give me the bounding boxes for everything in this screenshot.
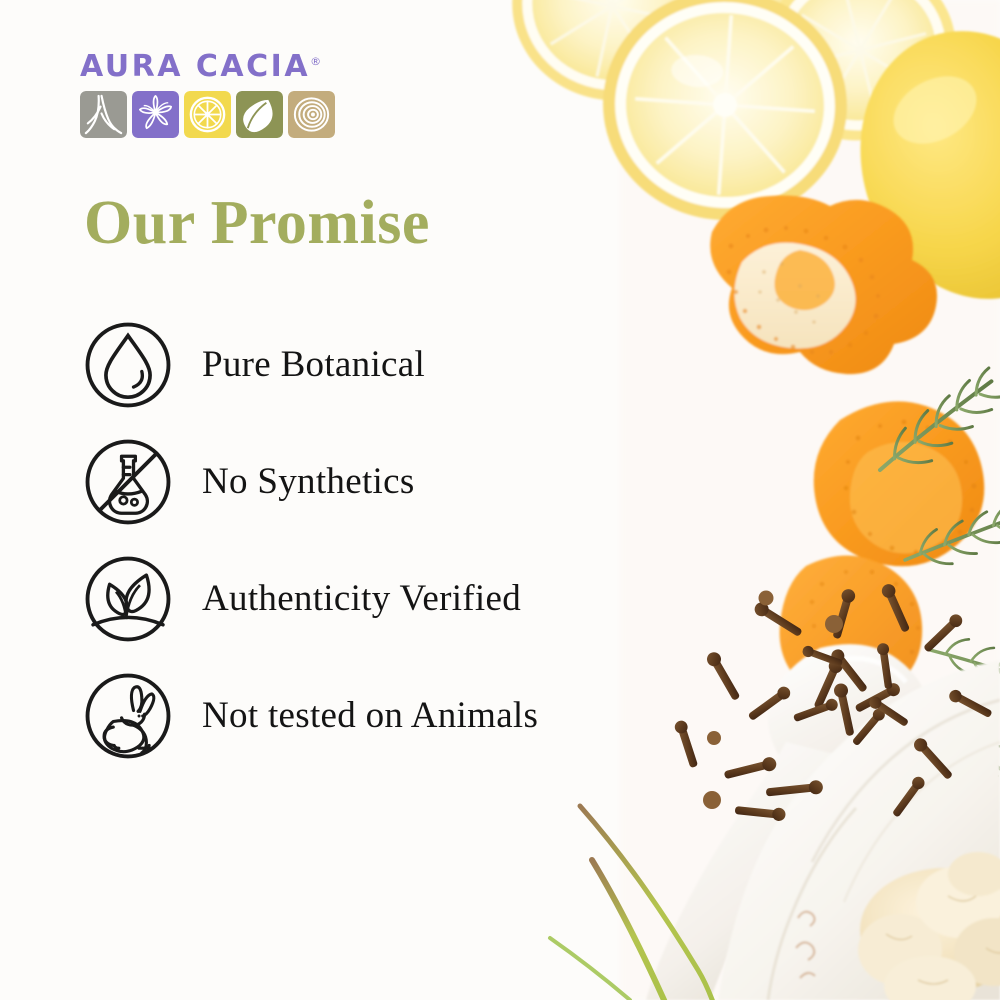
brand-wordmark: AURA CACIA® [80, 52, 370, 82]
lemongrass-blades [550, 806, 760, 1000]
concentric-rings-icon [288, 91, 335, 138]
list-item-label: Authenticity Verified [202, 577, 521, 620]
brand-logo[interactable]: AURA CACIA® [80, 52, 370, 138]
orange-peel-curl [780, 401, 985, 702]
list-item: No Synthetics [82, 423, 702, 540]
promise-list: Pure Botanical No Synthetics [82, 306, 702, 774]
list-item: Authenticity Verified [82, 540, 702, 657]
leaf-icon [236, 91, 283, 138]
rosemary-sprigs [862, 366, 1000, 796]
frankincense-resin [858, 852, 1000, 1000]
citrus-slice-icon [184, 91, 231, 138]
rabbit-icon [82, 670, 174, 762]
list-item-label: No Synthetics [202, 460, 415, 503]
brand-wordmark-text: AURA CACIA [80, 49, 310, 84]
list-item-label: Not tested on Animals [202, 694, 538, 737]
list-item: Not tested on Animals [82, 657, 702, 774]
whole-lemon [826, 1, 1000, 329]
cloves [673, 582, 994, 822]
registered-trademark-icon: ® [310, 55, 321, 68]
promise-graphic: AURA CACIA® [0, 0, 1000, 1000]
white-cloth [718, 660, 1000, 1000]
list-item-label: Pure Botanical [202, 343, 425, 386]
sprout-icon [82, 553, 174, 645]
droplet-icon [82, 319, 174, 411]
brand-icon-row [80, 91, 370, 138]
page-title: Our Promise [84, 192, 430, 254]
lemon-slices [495, 0, 975, 228]
list-item: Pure Botanical [82, 306, 702, 423]
orange-peel [710, 195, 937, 374]
no-flask-icon [82, 436, 174, 528]
roots-icon [80, 91, 127, 138]
flower-icon [132, 91, 179, 138]
